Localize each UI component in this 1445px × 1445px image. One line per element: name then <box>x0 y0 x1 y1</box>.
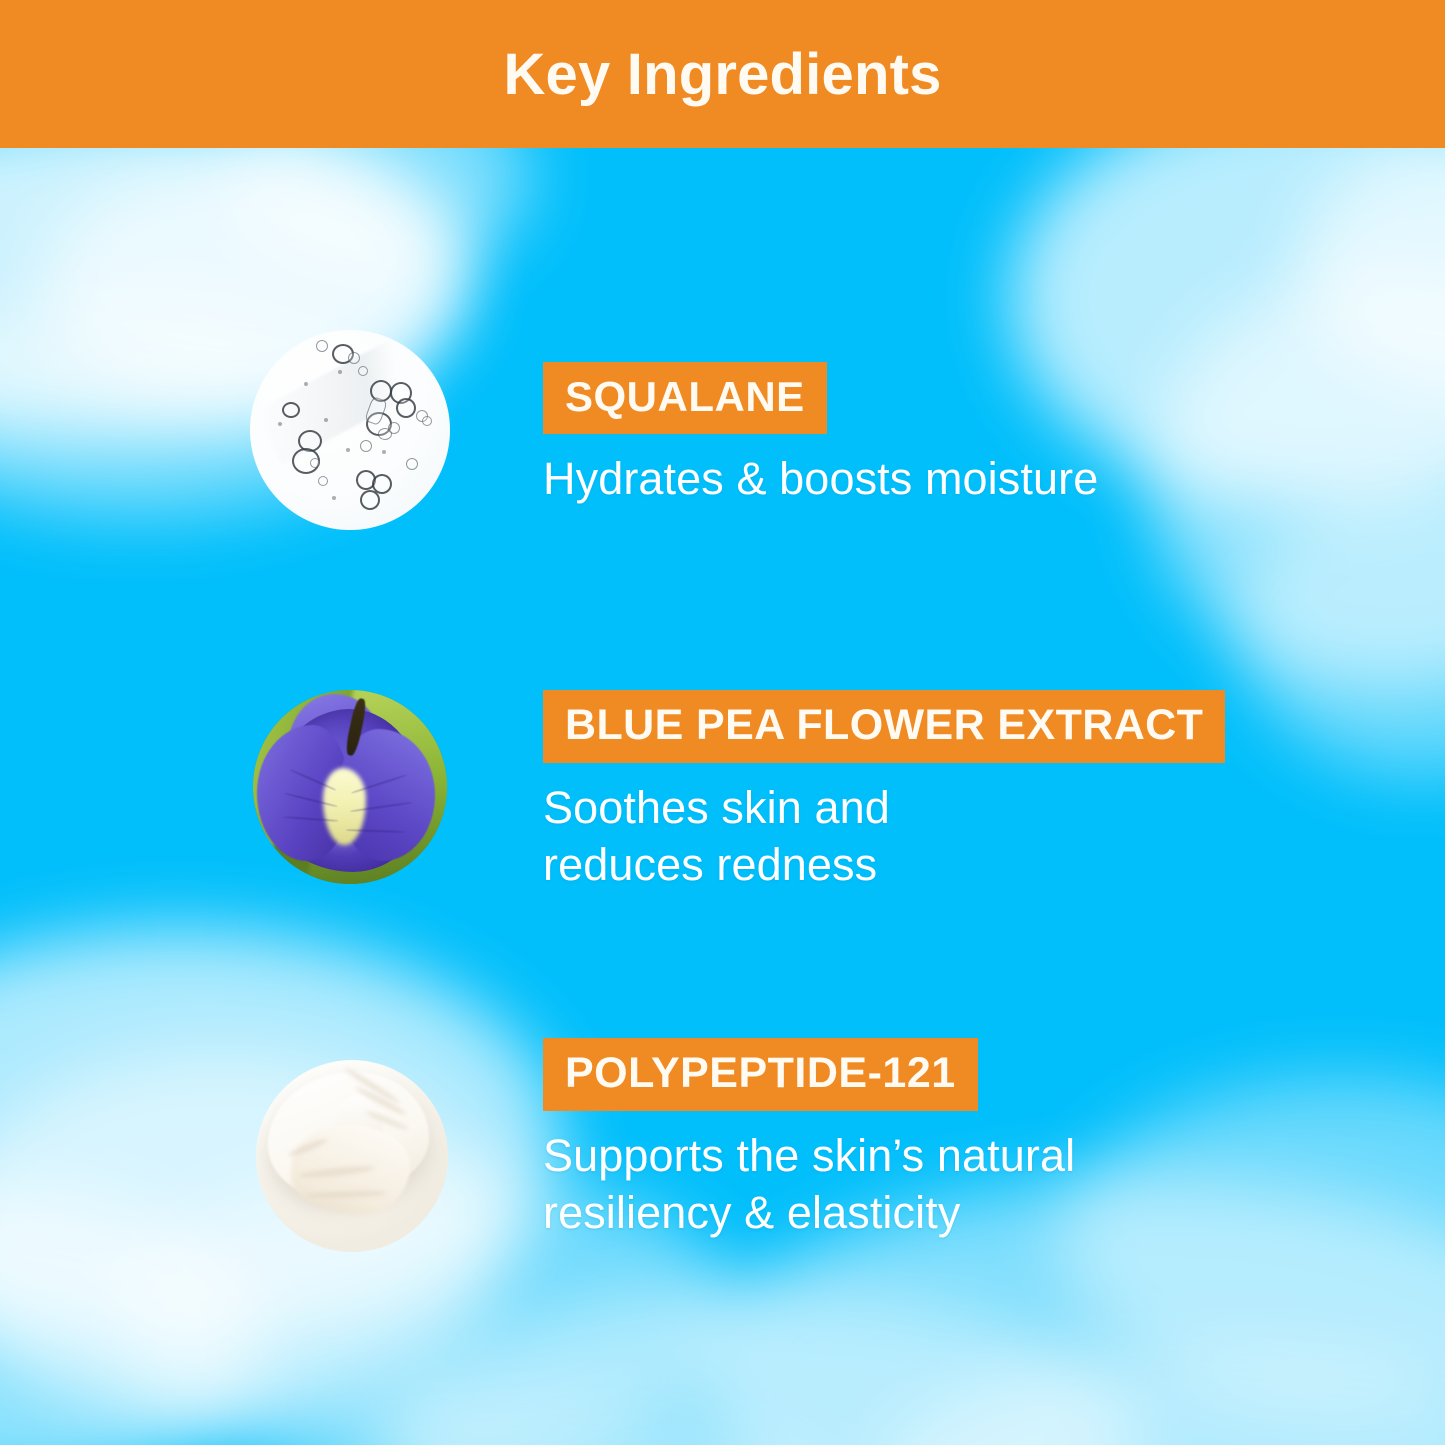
ingredient-name-badge: SQUALANE <box>543 362 827 434</box>
bubble <box>360 440 372 452</box>
bubble <box>282 402 300 418</box>
key-ingredients-poster: Key Ingredients <box>0 0 1445 1445</box>
bubble-dot <box>346 448 350 452</box>
bubble-dot <box>324 418 328 422</box>
ingredient-description: Hydrates & boosts moisture <box>543 450 1098 507</box>
bubble-dot <box>382 450 386 454</box>
bubble-dot <box>304 382 308 386</box>
ingredient-list: SQUALANE Hydrates & boosts moisture <box>0 148 1445 1445</box>
ingredient-description: Supports the skin’s natural resiliency &… <box>543 1127 1075 1241</box>
bubble <box>406 458 418 470</box>
ingredient-name-badge: POLYPEPTIDE-121 <box>543 1038 978 1111</box>
bubble <box>358 366 368 376</box>
ingredient-copy: BLUE PEA FLOWER EXTRACT Soothes skin and… <box>543 690 1225 893</box>
page-title: Key Ingredients <box>503 41 941 108</box>
header-bar: Key Ingredients <box>0 0 1445 148</box>
ingredient-name-badge: BLUE PEA FLOWER EXTRACT <box>543 690 1225 763</box>
gel-droplet-swatch <box>250 330 450 530</box>
bubble <box>422 416 432 426</box>
bubble <box>388 422 400 434</box>
bubble-dot <box>278 422 282 426</box>
ingredient-description: Soothes skin and reduces redness <box>543 779 1225 893</box>
bubble <box>360 490 380 510</box>
bubble <box>396 398 416 418</box>
bubble <box>348 352 360 364</box>
blue-pea-flower-swatch <box>253 690 447 884</box>
bubble-dot <box>332 496 336 500</box>
ingredient-copy: POLYPEPTIDE-121 Supports the skin’s natu… <box>543 1038 1075 1241</box>
cream-swirl-swatch <box>256 1060 448 1252</box>
bubble-dot <box>338 370 342 374</box>
ingredient-copy: SQUALANE Hydrates & boosts moisture <box>543 362 1098 507</box>
bubble <box>310 458 320 468</box>
bubble <box>316 340 328 352</box>
bubble <box>318 476 328 486</box>
